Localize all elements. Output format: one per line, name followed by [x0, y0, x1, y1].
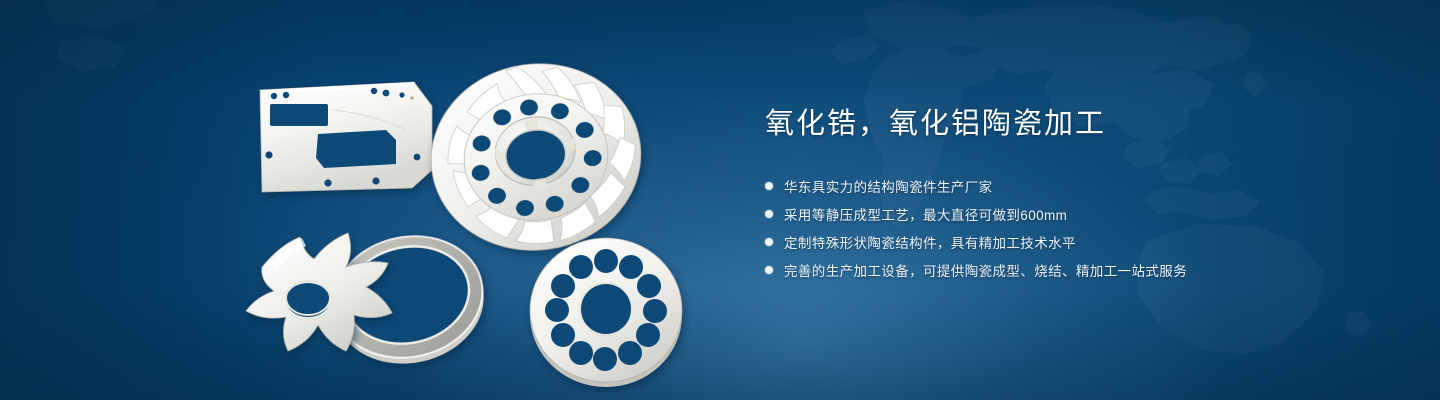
- ceramic-impeller-disc: [419, 52, 653, 264]
- bullet-dot-icon: [765, 238, 773, 246]
- ceramic-mounting-plate: [260, 82, 432, 192]
- page-title: 氧化锆，氧化铝陶瓷加工: [765, 106, 1395, 142]
- list-item: 定制特殊形状陶瓷结构件，具有精加工技术水平: [765, 230, 1395, 253]
- banner-copy: 氧化锆，氧化铝陶瓷加工 华东具实力的结构陶瓷件生产厂家 采用等静压成型工艺，最大…: [765, 106, 1395, 286]
- list-item-label: 完善的生产加工设备，可提供陶瓷成型、烧结、精加工一站式服务: [784, 260, 1187, 280]
- bullet-dot-icon: [765, 182, 773, 190]
- bullet-dot-icon: [765, 266, 773, 274]
- feature-list: 华东具实力的结构陶瓷件生产厂家 采用等静压成型工艺，最大直径可做到600mm 定…: [765, 174, 1395, 281]
- product-photo: [236, 52, 706, 392]
- bullet-dot-icon: [765, 210, 773, 218]
- list-item-label: 采用等静压成型工艺，最大直径可做到600mm: [784, 204, 1067, 224]
- list-item: 采用等静压成型工艺，最大直径可做到600mm: [765, 202, 1395, 225]
- hero-banner: 氧化锆，氧化铝陶瓷加工 华东具实力的结构陶瓷件生产厂家 采用等静压成型工艺，最大…: [0, 0, 1440, 400]
- list-item: 华东具实力的结构陶瓷件生产厂家: [765, 174, 1395, 197]
- ceramic-hole-disc: [530, 238, 682, 387]
- list-item-label: 定制特殊形状陶瓷结构件，具有精加工技术水平: [784, 232, 1076, 252]
- list-item-label: 华东具实力的结构陶瓷件生产厂家: [784, 176, 993, 196]
- list-item: 完善的生产加工设备，可提供陶瓷成型、烧结、精加工一站式服务: [765, 258, 1395, 281]
